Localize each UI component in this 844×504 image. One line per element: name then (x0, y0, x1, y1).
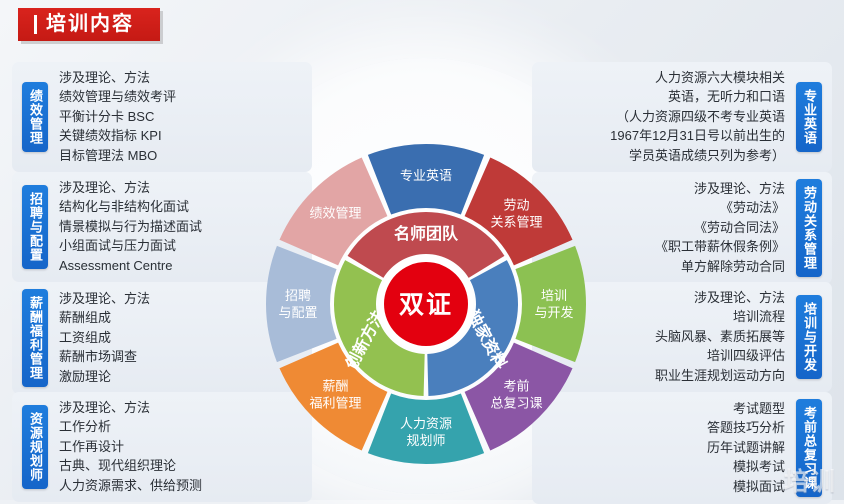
panel-tab-label[interactable]: 资源规划师 (22, 405, 48, 489)
outer-segment-label: 绩效管理 (309, 205, 361, 220)
outer-segment-label: 专业英语 (400, 168, 452, 183)
panel-line: 人力资源需求、供给预测 (59, 477, 302, 495)
title-accent-bar (34, 15, 37, 34)
panel-tab-label[interactable]: 培训与开发 (796, 295, 822, 379)
core-label: 双证 (399, 291, 453, 319)
panel-line: 英语，无听力和口语 (542, 88, 785, 106)
title-text: 培训内容 (46, 14, 134, 34)
panel-line: 平衡计分卡 BSC (59, 108, 302, 126)
panel-tab-label[interactable]: 专业英语 (796, 82, 822, 152)
panel-line: 绩效管理与绩效考评 (59, 88, 302, 106)
outer-segment[interactable] (266, 246, 337, 362)
panel-tab-label[interactable]: 招聘与配置 (22, 185, 48, 269)
outer-segment[interactable] (515, 246, 586, 362)
title-banner: 培训内容 (18, 8, 160, 41)
page-title: 培训内容 (18, 8, 160, 41)
panel-line: 人力资源六大模块相关 (542, 69, 785, 87)
wheel-svg: 双证 专业英语劳动关系管理培训与开发考前总复习课人力资源规划师薪酬福利管理招聘与… (262, 140, 590, 468)
page-root: 培训内容 绩效管理 涉及理论、方法 绩效管理与绩效考评 平衡计分卡 BSC 关键… (0, 0, 844, 500)
panel-tab-label[interactable]: 薪酬福利管理 (22, 289, 48, 387)
panel-tab-label[interactable]: 考前总复习课 (796, 399, 822, 497)
inner-segment-label: 名师团队 (394, 224, 459, 243)
wheel-diagram: 双证 专业英语劳动关系管理培训与开发考前总复习课人力资源规划师薪酬福利管理招聘与… (262, 140, 590, 468)
panel-line: （人力资源四级不考专业英语 (542, 108, 785, 126)
panel-tab-label[interactable]: 劳动关系管理 (796, 179, 822, 277)
panel-line: 模拟面试 (542, 478, 785, 496)
panel-tab-label[interactable]: 绩效管理 (22, 82, 48, 152)
panel-line: 涉及理论、方法 (59, 69, 302, 87)
